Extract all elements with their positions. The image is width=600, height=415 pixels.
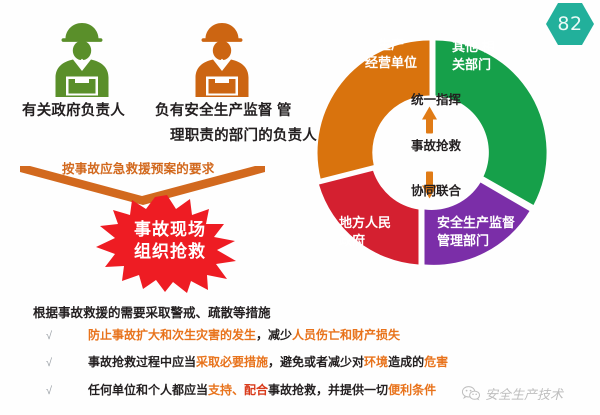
donut-label-purple: 安全生产监督 管理部门 — [437, 214, 535, 250]
body-lead-text: 根据事故救援的需要采取警戒、疏散等措施 — [33, 302, 271, 321]
text-run: 任何单位和个人都应当 — [88, 383, 208, 397]
list-item: √ 任何单位和个人都应当支持、配合事故抢救，并提供一切便利条件 — [46, 381, 436, 398]
text-run: 危害 — [424, 355, 448, 369]
text-run: ，减少 — [256, 328, 292, 342]
donut-label-orange-line1: 生产 — [355, 36, 427, 54]
text-run: 防止事故扩大和次生灾害的发生 — [88, 328, 256, 342]
text-run: 事故抢救过程中应当 — [88, 355, 196, 369]
list-item: √ 防止事故扩大和次生灾害的发生，减少人员伤亡和财产损失 — [46, 326, 400, 343]
chevron-banner-text: 按事故应急救援预案的要求 — [62, 158, 214, 177]
donut-label-red-line2: 政府 — [339, 232, 415, 250]
donut-label-green: 其他 相 关部门 — [452, 38, 526, 74]
text-run: 采取必要措施 — [196, 355, 268, 369]
worker-hardhat-icon — [42, 17, 122, 102]
list-item: √ 事故抢救过程中应当采取必要措施，避免或者减少对环境造成的危害 — [46, 353, 448, 370]
text-run: 支持、 — [208, 383, 244, 397]
check-icon: √ — [46, 357, 88, 369]
donut-label-orange: 生产 经营单位 — [355, 36, 427, 72]
wechat-icon — [462, 386, 480, 401]
donut-label-orange-line2: 经营单位 — [355, 54, 427, 72]
worker-hardhat-icon — [182, 17, 262, 102]
donut-center-bottom: 协同联合 — [411, 180, 461, 199]
bullet-text-1: 防止事故扩大和次生灾害的发生，减少人员伤亡和财产损失 — [88, 326, 400, 343]
donut-label-green-line2: 关部门 — [452, 56, 526, 74]
donut-label-red-line1: 地方人民 — [339, 214, 415, 232]
explosion-burst-shape — [72, 193, 262, 293]
donut-label-purple-line2: 管理部门 — [437, 232, 535, 250]
text-run: 人员伤亡和财产损失 — [292, 328, 400, 342]
actor-label-supervisor-line2: 理职责的部门的负责人 — [170, 124, 317, 145]
text-run: 造成的 — [388, 355, 424, 369]
slide-canvas: 82 有关政府负责人 负有安全生产监督 管 理职责的部门的负责人 按事故应急救援… — [0, 0, 600, 415]
text-run: 环境 — [364, 355, 388, 369]
check-icon: √ — [46, 330, 88, 342]
actor-label-government: 有关政府负责人 — [22, 99, 125, 120]
check-icon: √ — [46, 385, 88, 397]
bullet-text-3: 任何单位和个人都应当支持、配合事故抢救，并提供一切便利条件 — [88, 381, 436, 398]
text-run: ，避免或者减少对 — [268, 355, 364, 369]
page-number-text: 82 — [557, 13, 582, 35]
donut-center-text: 统一指挥 事故抢救 协同联合 — [383, 89, 489, 199]
watermark: 安全生产技术 — [462, 384, 563, 403]
text-run: 配合 — [244, 383, 268, 397]
text-run: 便利条件 — [388, 383, 436, 397]
actor-label-supervisor-line1: 负有安全生产监督 管 — [155, 99, 292, 120]
donut-label-red: 地方人民 政府 — [339, 214, 415, 250]
donut-center-middle: 事故抢救 — [411, 135, 461, 154]
donut-label-purple-line1: 安全生产监督 — [437, 214, 535, 232]
donut-label-green-line1: 其他 相 — [452, 38, 526, 56]
page-number-badge: 82 — [546, 3, 594, 45]
text-run: 事故抢救，并提供一切 — [268, 383, 388, 397]
bullet-text-2: 事故抢救过程中应当采取必要措施，避免或者减少对环境造成的危害 — [88, 353, 448, 370]
donut-center-top: 统一指挥 — [411, 89, 461, 108]
watermark-text: 安全生产技术 — [485, 384, 563, 403]
